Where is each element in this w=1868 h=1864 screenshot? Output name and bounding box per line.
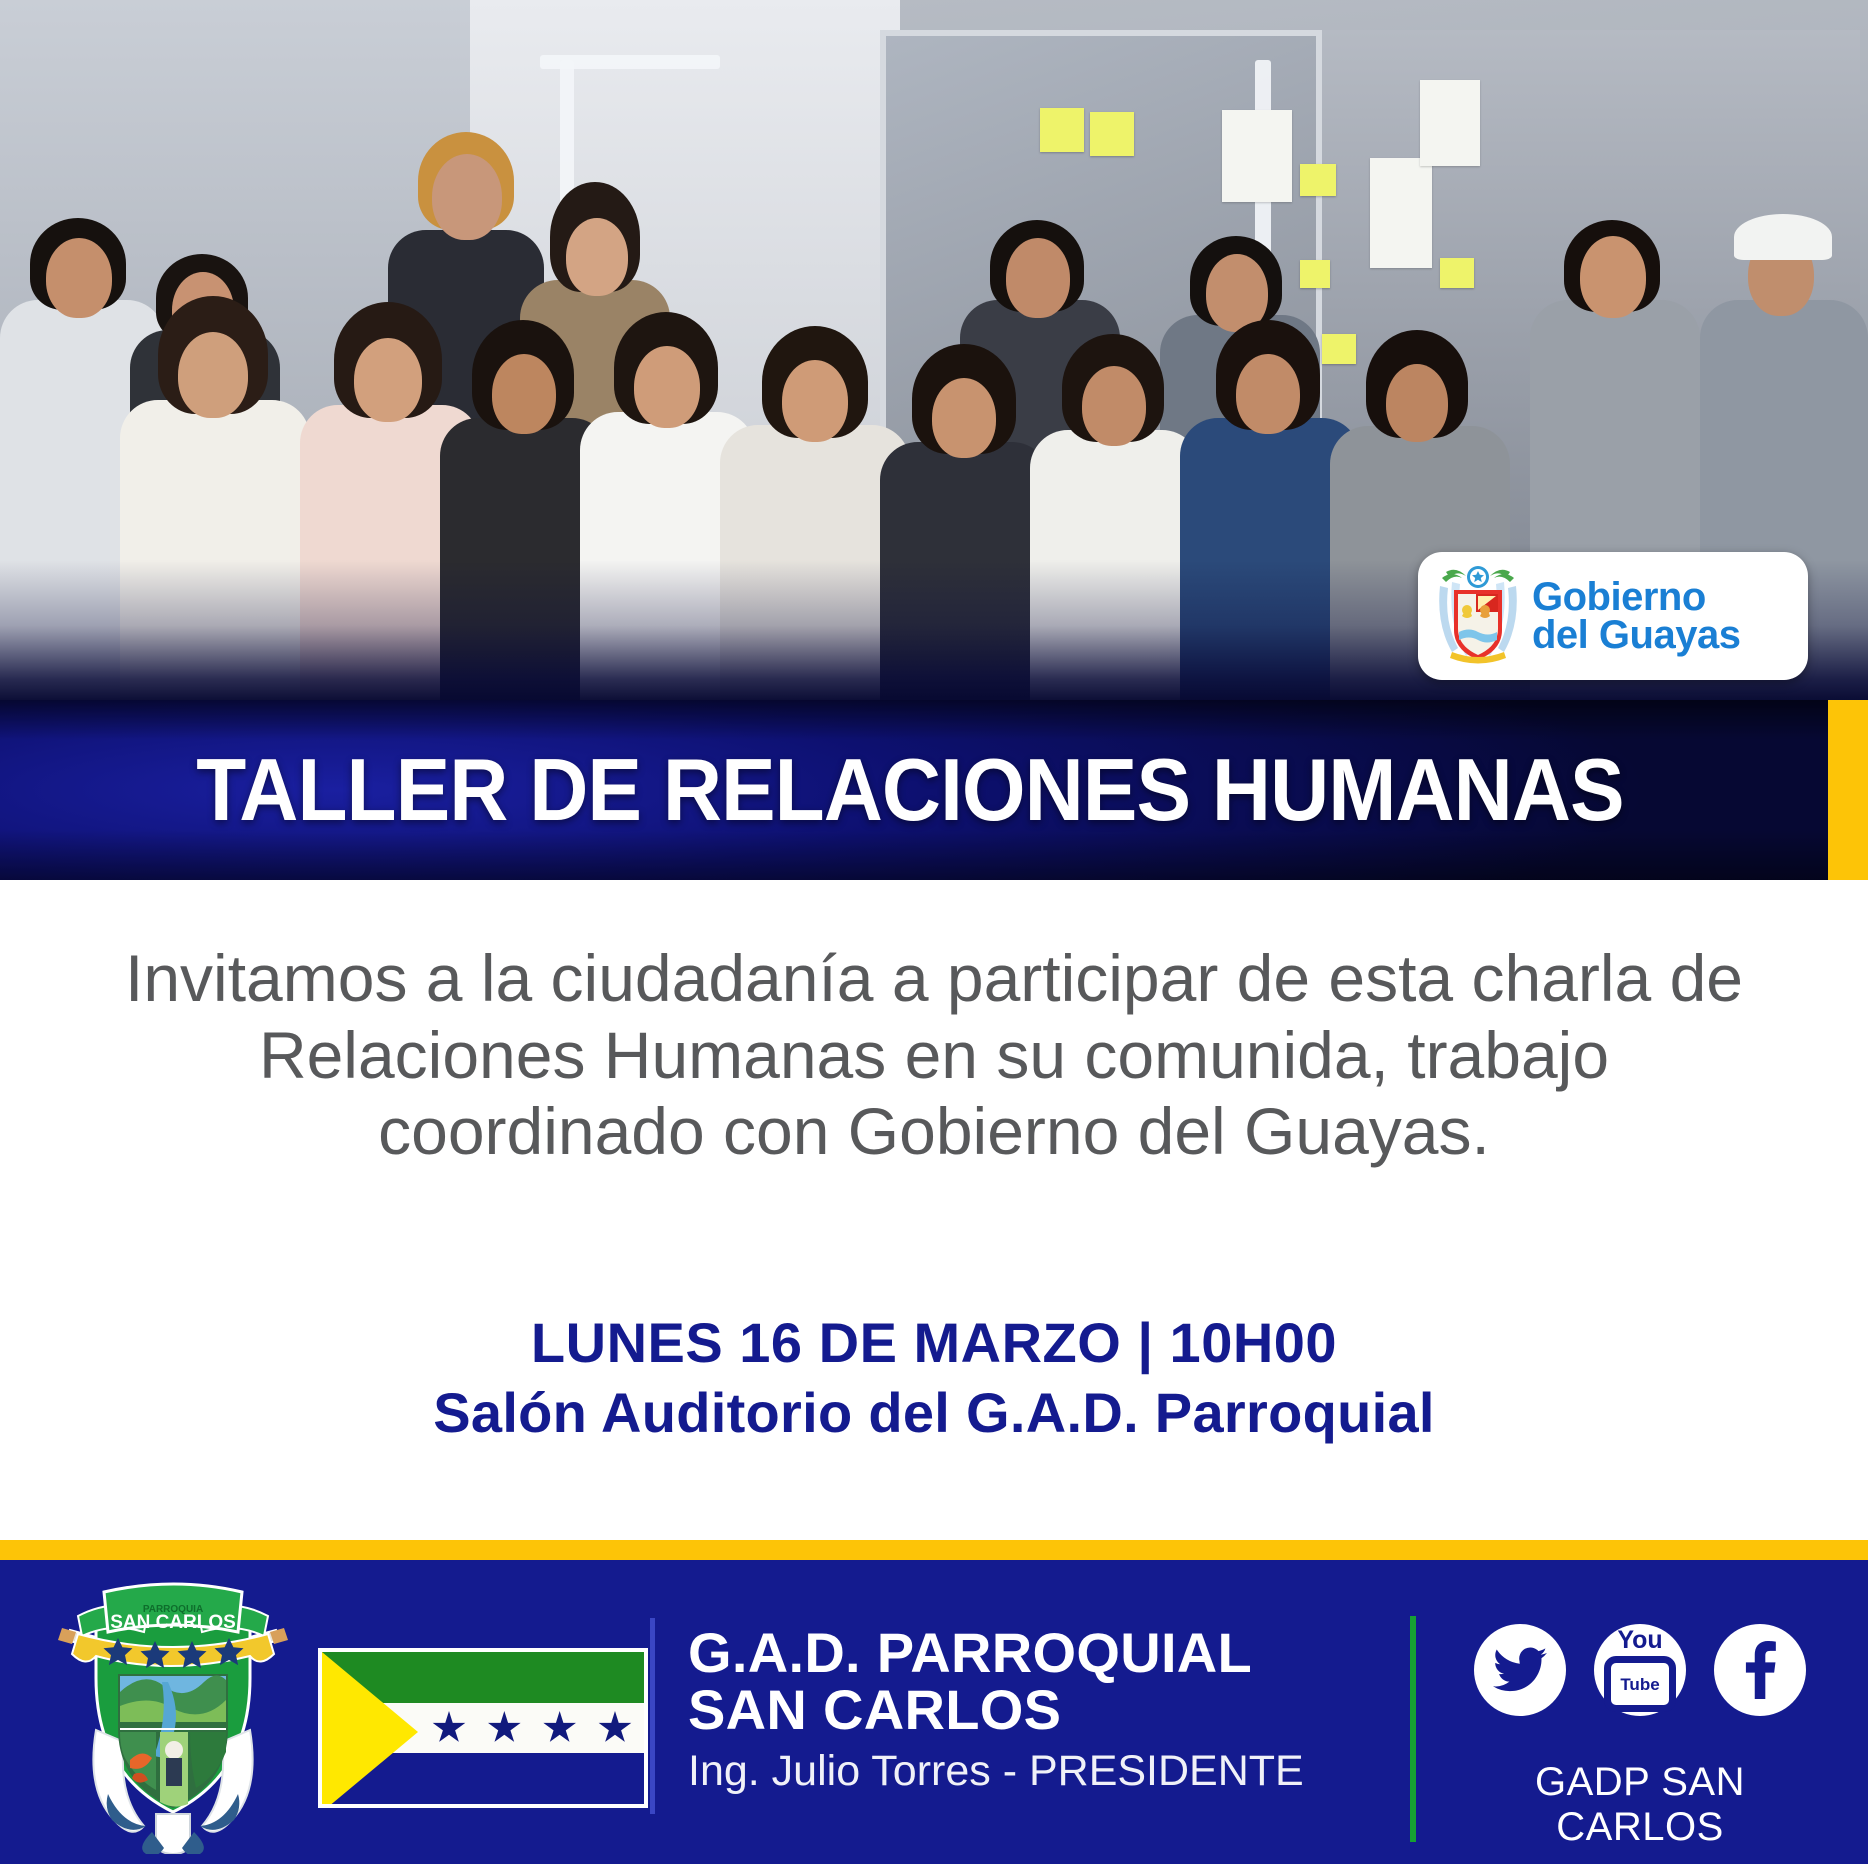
gold-accent-bar xyxy=(1828,700,1868,880)
social-handle: GADP SAN CARLOS xyxy=(1448,1760,1832,1850)
guayas-line-1: Gobierno xyxy=(1532,578,1740,616)
poster-root: Gobierno del Guayas TALLER DE RELACIONES… xyxy=(0,0,1868,1864)
footer-divider-left xyxy=(650,1618,655,1814)
youtube-button[interactable]: You Tube xyxy=(1594,1624,1686,1716)
guayas-logo-badge: Gobierno del Guayas xyxy=(1418,552,1808,680)
org-line-1: G.A.D. PARROQUIAL xyxy=(688,1624,1304,1681)
twitter-icon xyxy=(1493,1647,1547,1693)
guayas-line-2: del Guayas xyxy=(1532,616,1740,654)
header-group-photo: Gobierno del Guayas xyxy=(0,0,1868,700)
flag-triangle xyxy=(322,1652,418,1808)
organization-block: G.A.D. PARROQUIAL SAN CARLOS Ing. Julio … xyxy=(688,1624,1304,1800)
footer-divider-right xyxy=(1410,1616,1416,1842)
flag-stars xyxy=(432,1703,632,1753)
flag-star xyxy=(487,1711,521,1745)
photo-sticky-note xyxy=(1440,258,1474,288)
guayas-coat-of-arms-icon xyxy=(1432,564,1524,668)
flag-star xyxy=(543,1711,577,1745)
main-content: Invitamos a la ciudadanía a participar d… xyxy=(0,880,1868,1540)
facebook-button[interactable] xyxy=(1714,1624,1806,1716)
footer-gold-band xyxy=(0,1540,1868,1560)
san-carlos-coat-of-arms-icon: PARROQUIA SAN CARLOS xyxy=(48,1582,298,1854)
youtube-icon: You Tube xyxy=(1604,1628,1676,1712)
facebook-icon xyxy=(1743,1641,1777,1699)
crest-banner-text: SAN CARLOS xyxy=(110,1612,236,1633)
title-banner: TALLER DE RELACIONES HUMANAS xyxy=(0,700,1868,880)
san-carlos-flag-icon xyxy=(318,1648,648,1808)
guayas-logo-text: Gobierno del Guayas xyxy=(1532,578,1740,654)
social-links: You Tube xyxy=(1470,1624,1810,1716)
photo-paper xyxy=(1370,158,1432,268)
event-venue: Salón Auditorio del G.A.D. Parroquial xyxy=(100,1380,1768,1445)
lead-paragraph: Invitamos a la ciudadanía a participar d… xyxy=(100,940,1768,1170)
photo-paper xyxy=(1420,80,1480,166)
president-name: Ing. Julio Torres - PRESIDENTE xyxy=(688,1742,1304,1800)
poster-title: TALLER DE RELACIONES HUMANAS xyxy=(64,700,1757,880)
flag-star xyxy=(432,1711,466,1745)
footer: PARROQUIA SAN CARLOS xyxy=(0,1560,1868,1864)
twitter-button[interactable] xyxy=(1474,1624,1566,1716)
org-line-2: SAN CARLOS xyxy=(688,1681,1304,1738)
flag-star xyxy=(598,1711,632,1745)
event-datetime: LUNES 16 DE MARZO | 10H00 xyxy=(100,1310,1768,1375)
